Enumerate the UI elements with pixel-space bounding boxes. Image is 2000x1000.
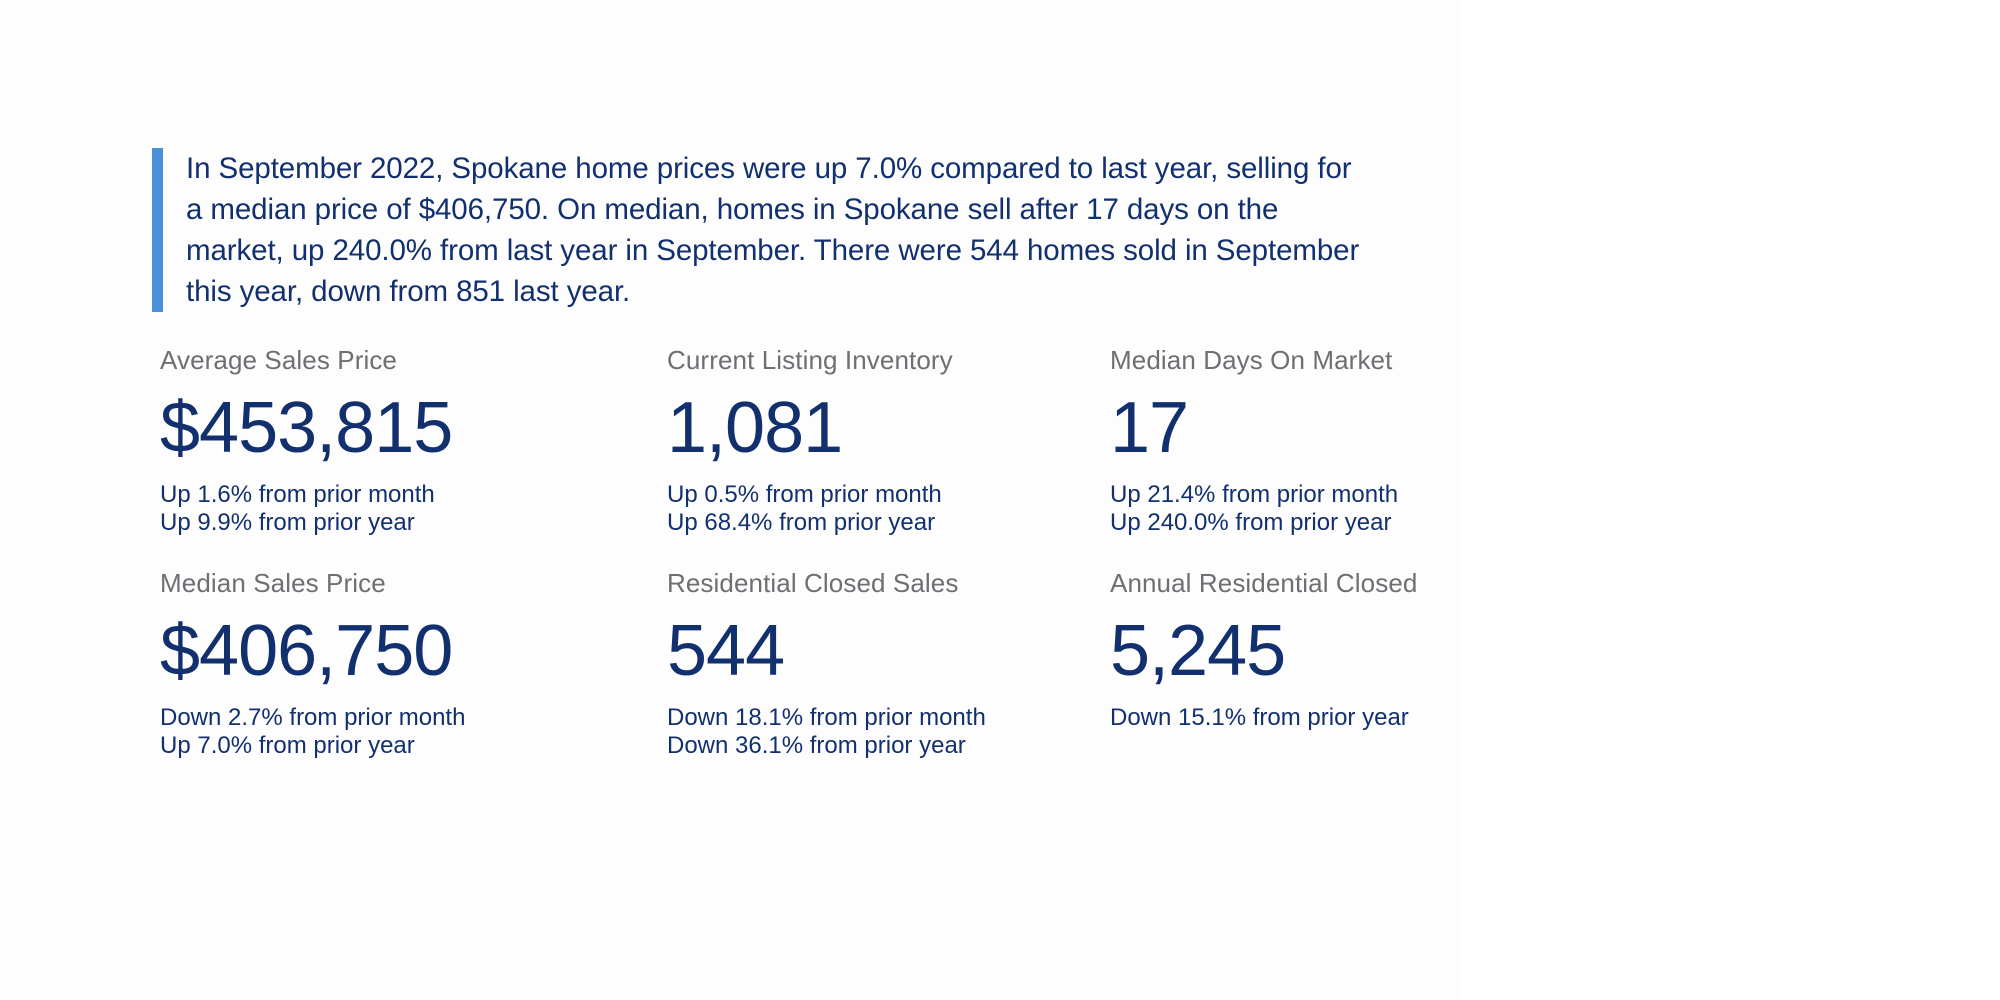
metric-label: Median Days On Market (1110, 345, 1462, 375)
metric-label: Residential Closed Sales (667, 568, 1187, 598)
metric-card-median-sales-price: Median Sales Price $406,750 Down 2.7% fr… (160, 568, 680, 760)
metric-notes: Up 0.5% from prior month Up 68.4% from p… (667, 481, 1187, 537)
metric-card-current-listing-inventory: Current Listing Inventory 1,081 Up 0.5% … (667, 345, 1187, 537)
market-summary-callout: In September 2022, Spokane home prices w… (152, 148, 1392, 312)
metric-notes: Down 15.1% from prior year (1110, 704, 1462, 732)
metric-card-annual-residential-closed: Annual Residential Closed 5,245 Down 15.… (1110, 568, 1462, 732)
metric-label: Average Sales Price (160, 345, 680, 375)
metric-notes: Down 2.7% from prior month Up 7.0% from … (160, 704, 680, 760)
metric-note-prior-month: Up 1.6% from prior month (160, 481, 680, 509)
metric-note-prior-month: Down 2.7% from prior month (160, 704, 680, 732)
metric-value: 17 (1110, 387, 1462, 469)
metric-label: Current Listing Inventory (667, 345, 1187, 375)
metric-note-prior-month: Up 0.5% from prior month (667, 481, 1187, 509)
metric-label: Median Sales Price (160, 568, 680, 598)
metric-value: 544 (667, 610, 1187, 692)
metric-note-prior-month: Down 18.1% from prior month (667, 704, 1187, 732)
metric-note-prior-year: Up 7.0% from prior year (160, 732, 680, 760)
metric-label: Annual Residential Closed (1110, 568, 1462, 598)
market-stats-page: In September 2022, Spokane home prices w… (0, 0, 1462, 1000)
metric-note-prior-year: Up 68.4% from prior year (667, 509, 1187, 537)
accent-bar (152, 148, 163, 312)
metric-card-residential-closed-sales: Residential Closed Sales 544 Down 18.1% … (667, 568, 1187, 760)
metric-note-prior-year: Up 240.0% from prior year (1110, 509, 1462, 537)
metric-value: 1,081 (667, 387, 1187, 469)
metric-notes: Up 21.4% from prior month Up 240.0% from… (1110, 481, 1462, 537)
metric-note-prior-year: Up 9.9% from prior year (160, 509, 680, 537)
market-summary-text: In September 2022, Spokane home prices w… (186, 148, 1366, 312)
metric-card-average-sales-price: Average Sales Price $453,815 Up 1.6% fro… (160, 345, 680, 537)
metric-note-prior-month: Up 21.4% from prior month (1110, 481, 1462, 509)
metric-card-median-days-on-market: Median Days On Market 17 Up 21.4% from p… (1110, 345, 1462, 537)
metric-grid: Average Sales Price $453,815 Up 1.6% fro… (160, 345, 1462, 791)
metric-value: $453,815 (160, 387, 680, 469)
metric-notes: Down 18.1% from prior month Down 36.1% f… (667, 704, 1187, 760)
metric-notes: Up 1.6% from prior month Up 9.9% from pr… (160, 481, 680, 537)
metric-note-prior-year: Down 15.1% from prior year (1110, 704, 1462, 732)
metric-value: 5,245 (1110, 610, 1462, 692)
metric-note-prior-year: Down 36.1% from prior year (667, 732, 1187, 760)
metric-row: Average Sales Price $453,815 Up 1.6% fro… (160, 345, 1462, 568)
metric-row: Median Sales Price $406,750 Down 2.7% fr… (160, 568, 1462, 791)
metric-value: $406,750 (160, 610, 680, 692)
